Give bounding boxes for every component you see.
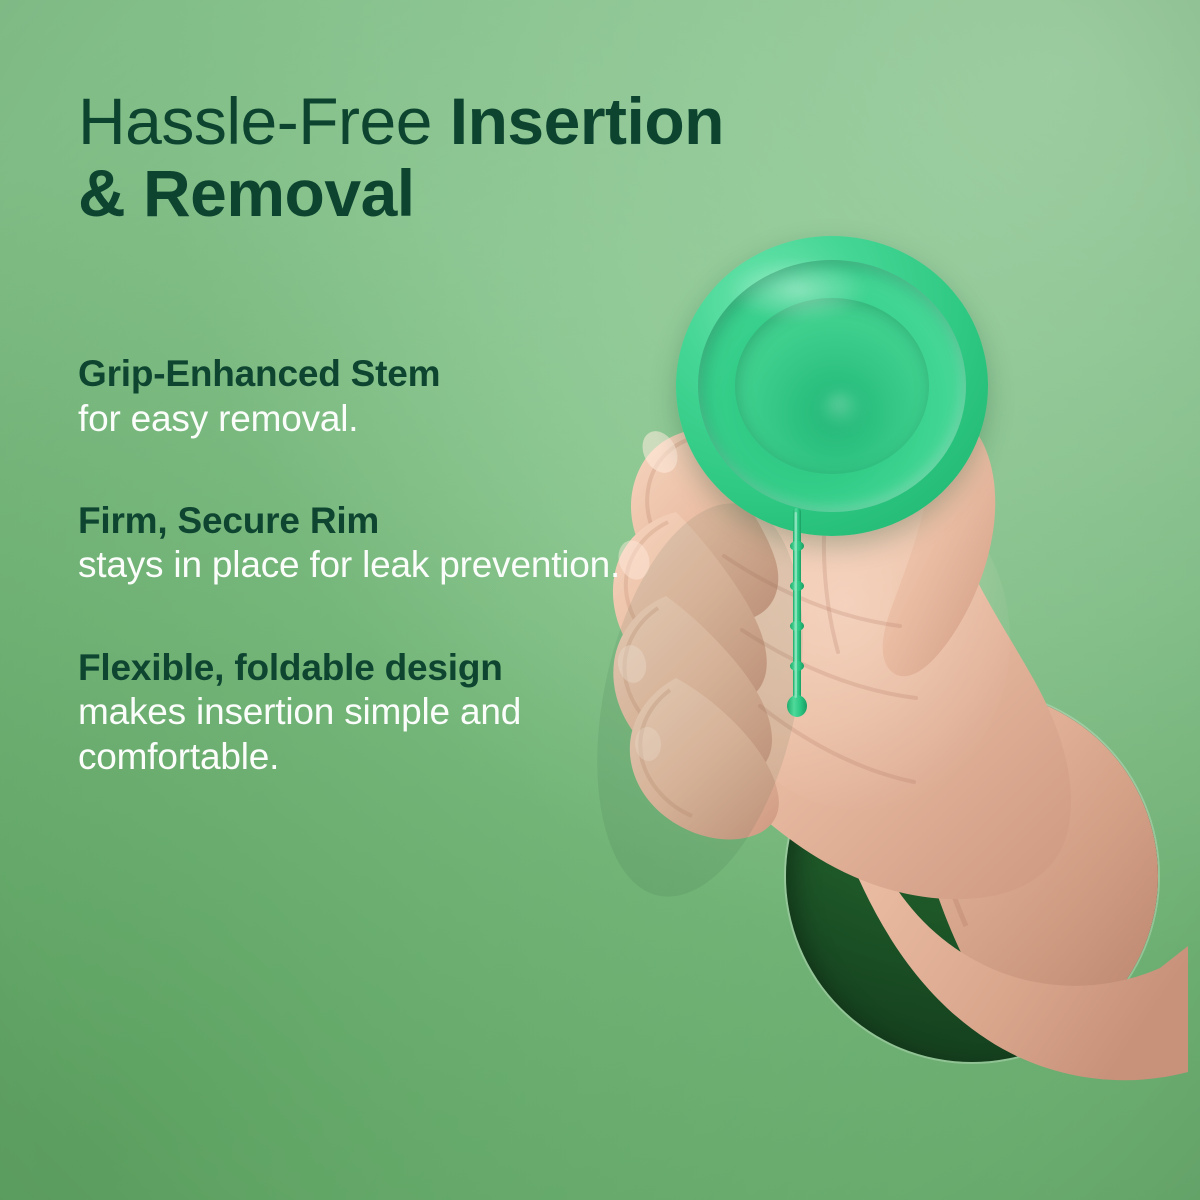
benefit-title: Flexible, foldable design	[78, 646, 678, 690]
stem-ball-tip	[787, 695, 807, 717]
benefit-description: stays in place for leak prevention.	[78, 542, 678, 587]
cup-outer-rim	[676, 236, 988, 536]
benefit-item-flexible-foldable-design: Flexible, foldable design makes insertio…	[78, 646, 678, 780]
benefit-item-grip-enhanced-stem: Grip-Enhanced Stem for easy removal.	[78, 352, 678, 441]
benefit-title: Firm, Secure Rim	[78, 499, 678, 543]
page-title: Hassle-Free Insertion & Removal	[78, 86, 1038, 230]
headline-line-two: & Removal	[78, 156, 415, 230]
menstrual-cup	[676, 236, 988, 536]
headline-bold-part: Insertion	[450, 84, 724, 158]
benefits-list: Grip-Enhanced Stem for easy removal. Fir…	[78, 352, 678, 779]
cup-bowl	[735, 298, 928, 474]
benefit-description: makes insertion simple and comfortable.	[78, 689, 678, 779]
marketing-image-canvas: Hassle-Free Insertion & Removal Grip-Enh…	[0, 0, 1200, 1200]
wall-hole	[786, 690, 1158, 1062]
benefit-item-firm-secure-rim: Firm, Secure Rim stays in place for leak…	[78, 499, 678, 588]
headline-light-part: Hassle-Free	[78, 84, 450, 158]
wall-hole-circle	[786, 690, 1158, 1062]
benefit-description: for easy removal.	[78, 396, 678, 441]
cup-stem	[786, 508, 808, 720]
benefit-title: Grip-Enhanced Stem	[78, 352, 678, 396]
wall-hole-shading	[786, 690, 1158, 1062]
cup-bowl-dimple	[820, 390, 863, 429]
cup-highlight	[726, 257, 870, 323]
